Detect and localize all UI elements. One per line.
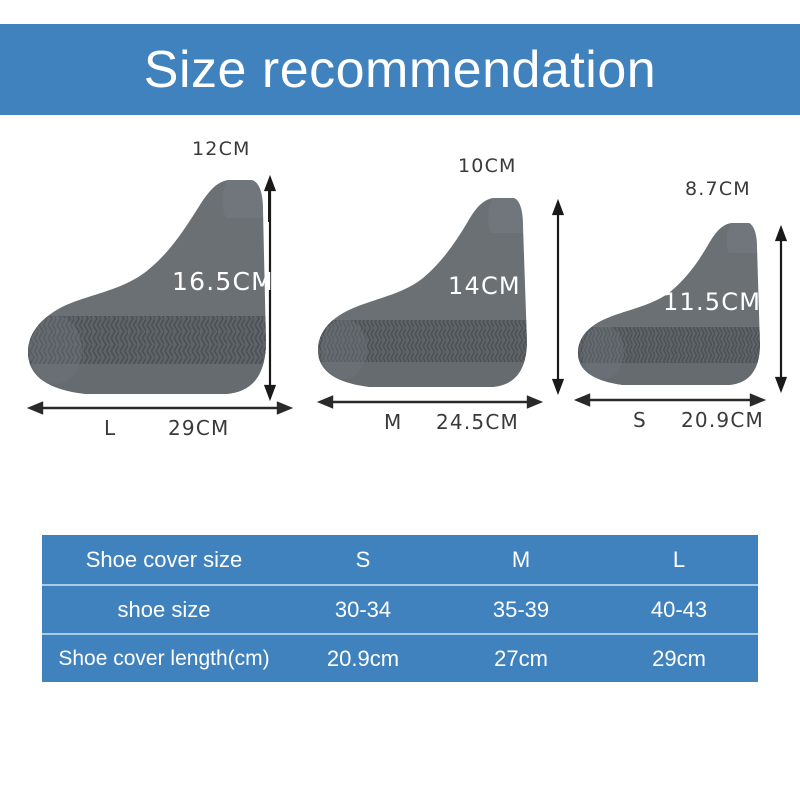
length-label-medium: 24.5CM <box>436 410 519 434</box>
table-row: Shoe cover size S M L <box>42 535 758 584</box>
size-table: Shoe cover size S M L shoe size 30-34 35… <box>42 535 758 682</box>
height-label-large: 16.5CM <box>172 267 274 296</box>
table-row: Shoe cover length(cm) 20.9cm 27cm 29cm <box>42 633 758 682</box>
row-header-shoe-cover-size: Shoe cover size <box>42 547 284 573</box>
shoe-figure-medium: 10CM 14CM M 24.5CM <box>310 130 565 500</box>
size-letter-small: S <box>633 408 647 432</box>
length-label-small: 20.9CM <box>681 408 764 432</box>
cell-cover-size-l: L <box>600 547 758 573</box>
cell-shoe-size-l: 40-43 <box>600 597 758 623</box>
height-label-small: 11.5CM <box>663 288 761 316</box>
size-letter-large: L <box>104 416 116 440</box>
height-dimension-arrow-medium <box>554 202 563 392</box>
shoe-figure-small: 8.7CM 11.5CM S 20.9CM <box>565 130 800 500</box>
shoe-figure-large: 12CM 16.5CM L 29CM <box>20 130 300 500</box>
length-label-large: 29CM <box>168 416 229 440</box>
row-header-shoe-cover-length: Shoe cover length(cm) <box>42 647 284 671</box>
row-header-shoe-size: shoe size <box>42 597 284 623</box>
header-banner: Size recommendation <box>0 24 800 115</box>
shoe-illustration-small <box>565 130 800 430</box>
cell-cover-length-s: 20.9cm <box>284 646 442 672</box>
cell-cover-size-m: M <box>442 547 600 573</box>
opening-width-label-medium: 10CM <box>458 155 517 177</box>
shoe-diagram-area: 12CM 16.5CM L 29CM <box>0 130 800 500</box>
length-dimension-arrow-small <box>577 395 763 405</box>
length-dimension-arrow-medium <box>320 397 540 407</box>
shoe-illustration-medium <box>310 130 565 430</box>
height-label-medium: 14CM <box>448 272 521 300</box>
cell-shoe-size-m: 35-39 <box>442 597 600 623</box>
page-title: Size recommendation <box>144 44 656 96</box>
size-letter-medium: M <box>384 410 402 434</box>
length-dimension-arrow-large <box>30 403 290 413</box>
opening-width-label-large: 12CM <box>192 138 251 160</box>
opening-width-label-small: 8.7CM <box>685 178 751 200</box>
cell-cover-size-s: S <box>284 547 442 573</box>
cell-cover-length-m: 27cm <box>442 646 600 672</box>
table-row: shoe size 30-34 35-39 40-43 <box>42 584 758 633</box>
cell-cover-length-l: 29cm <box>600 646 758 672</box>
cell-shoe-size-s: 30-34 <box>284 597 442 623</box>
height-dimension-arrow-small <box>777 228 786 390</box>
